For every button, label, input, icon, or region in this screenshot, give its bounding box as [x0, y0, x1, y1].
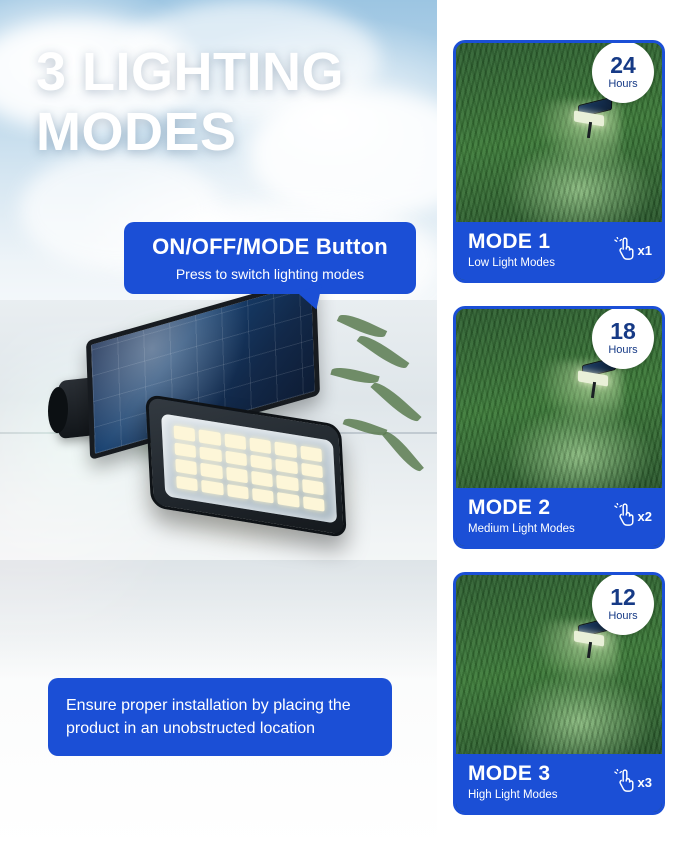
button-callout-subtitle: Press to switch lighting modes: [140, 266, 400, 282]
button-callout: ON/OFF/MODE Button Press to switch light…: [124, 222, 416, 294]
runtime-hours-value: 24: [610, 54, 636, 77]
mode-name: MODE 2: [468, 496, 575, 520]
mode-description: High Light Modes: [468, 788, 558, 802]
tap-finger-icon: [614, 769, 636, 795]
mini-solar-light-icon: [572, 101, 618, 135]
product-infographic: 3 LIGHTING MODES ON/OFF/MODE Button Pres…: [0, 0, 679, 849]
mode-cards: 24 Hours MODE 1 Low Light Modes x1: [453, 40, 665, 815]
installation-callout: Ensure proper installation by placing th…: [48, 678, 392, 756]
mode-card-footer: MODE 3 High Light Modes x3: [456, 754, 662, 812]
mode-name: MODE 3: [468, 762, 558, 786]
tap-finger-icon: [614, 503, 636, 529]
solar-wall-light-product: [40, 300, 400, 600]
mode-description: Medium Light Modes: [468, 522, 575, 536]
runtime-hours-value: 12: [610, 586, 636, 609]
mode-card-footer: MODE 1 Low Light Modes x1: [456, 222, 662, 280]
runtime-hours-value: 18: [610, 320, 636, 343]
press-count: x2: [638, 509, 652, 524]
button-callout-title: ON/OFF/MODE Button: [140, 234, 400, 260]
mode-card-footer: MODE 2 Medium Light Modes x2: [456, 488, 662, 546]
led-array: [174, 425, 325, 511]
runtime-hours-label: Hours: [608, 344, 637, 356]
press-count: x1: [638, 243, 652, 258]
lamp-lens: [161, 413, 337, 523]
runtime-badge: 24 Hours: [592, 41, 654, 103]
runtime-hours-label: Hours: [608, 610, 637, 622]
press-count: x3: [638, 775, 652, 790]
page-title: 3 LIGHTING MODES: [36, 42, 416, 162]
mode-card: 18 Hours MODE 2 Medium Light Modes x2: [453, 306, 665, 549]
runtime-badge: 18 Hours: [592, 307, 654, 369]
mode-card: 24 Hours MODE 1 Low Light Modes x1: [453, 40, 665, 283]
tap-finger-icon: [614, 237, 636, 263]
runtime-hours-label: Hours: [608, 78, 637, 90]
mode-name: MODE 1: [468, 230, 555, 254]
mode-description: Low Light Modes: [468, 256, 555, 270]
mode-card: 12 Hours MODE 3 High Light Modes x3: [453, 572, 665, 815]
runtime-badge: 12 Hours: [592, 573, 654, 635]
